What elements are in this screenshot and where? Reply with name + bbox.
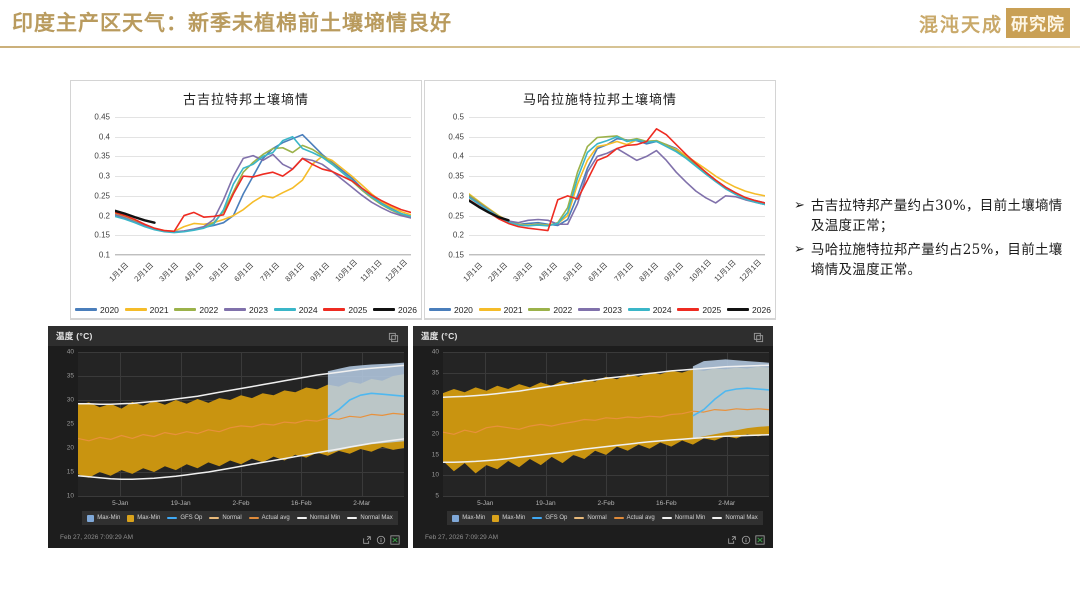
series-2020 (115, 135, 411, 232)
x-axis-tick: 3月1日 (157, 260, 181, 284)
x-axis-tick: 5月1日 (207, 260, 231, 284)
legend-label: 2022 (553, 305, 572, 315)
copy-icon[interactable] (753, 330, 764, 341)
bullet-item: ➢古吉拉特邦产量约占30%，目前土壤墒情及温度正常； (794, 196, 1072, 236)
temp-legend-item[interactable]: Normal Max (347, 515, 392, 521)
temp-legend-item[interactable]: Normal (574, 515, 606, 521)
year-legend-item[interactable]: 2024 (274, 305, 318, 315)
temp-gridline (443, 496, 769, 497)
x-axis-tick: 11月1日 (711, 257, 738, 284)
legend-label: 2025 (348, 305, 367, 315)
external-link-icon[interactable] (362, 532, 372, 542)
logo-badge: 研究院 (1006, 8, 1070, 38)
logo-text: 混沌天成 (919, 10, 1003, 37)
temp-legend-label: GFS Op (545, 515, 567, 521)
temp-y-tick: 25 (432, 410, 439, 417)
temp-footer-icons (727, 532, 765, 542)
soil-series-svg (115, 117, 411, 255)
temp-legend-label: Normal (587, 515, 606, 521)
x-axis-tick: 4月1日 (536, 260, 560, 284)
page-title: 印度主产区天气：新季未植棉前土壤墒情良好 (12, 7, 452, 37)
legend-swatch-2022 (174, 308, 196, 311)
legend-swatch-2023 (578, 308, 600, 311)
legend-swatch-2026 (727, 308, 749, 311)
x-axis-tick: 8月1日 (636, 260, 660, 284)
excel-export-icon[interactable] (755, 532, 765, 542)
temp-y-tick: 10 (432, 472, 439, 479)
soil-plot-area-gujarat: 0.450.40.350.30.250.20.150.11月1日2月1日3月1日… (115, 117, 411, 255)
temp-legend-item[interactable]: Actual avg (614, 515, 655, 521)
temperature-chart-gujarat: 温度 (°C) 403530252015105-Jan19-Jan2-Feb16… (48, 326, 408, 548)
excel-export-icon[interactable] (390, 532, 400, 542)
x-axis-tick: 2月1日 (132, 260, 156, 284)
forecast-range-band (328, 363, 404, 453)
legend-swatch-2020 (75, 308, 97, 311)
x-axis-tick: 10月1日 (332, 257, 359, 284)
x-axis-tick: 6月1日 (232, 260, 256, 284)
temp-y-tick: 40 (67, 349, 74, 356)
temperature-chart-maharashtra: 温度 (°C) 4035302520151055-Jan19-Jan2-Feb1… (413, 326, 773, 548)
year-legend-item[interactable]: 2022 (528, 305, 572, 315)
legend-swatch-2021 (479, 308, 501, 311)
temp-y-tick: 20 (67, 445, 74, 452)
bullet-item: ➢马哈拉施特拉邦产量约占25%，目前土壤墒情及温度正常。 (794, 240, 1072, 280)
legend-swatch-2026 (373, 308, 395, 311)
soil-chart-title: 马哈拉施特拉邦土壤墒情 (425, 89, 775, 108)
temp-legend-label: Normal (222, 515, 241, 521)
bullet-marker-icon: ➢ (794, 240, 805, 260)
temp-gridline (78, 496, 404, 497)
year-legend-item[interactable]: 2026 (373, 305, 417, 315)
forecast-range-band (693, 359, 769, 438)
temp-legend-swatch (87, 515, 94, 522)
series-2021 (469, 140, 765, 225)
y-axis-tick: 0.15 (94, 231, 110, 240)
y-axis-tick: 0.35 (448, 172, 464, 181)
legend-swatch-2022 (528, 308, 550, 311)
y-axis-tick: 0.35 (94, 152, 110, 161)
x-axis-tick: 5月1日 (561, 260, 585, 284)
temp-x-tick: 16-Feb (291, 500, 312, 507)
temp-legend-swatch (297, 517, 307, 519)
bullet-marker-icon: ➢ (794, 196, 805, 216)
legend-label: 2020 (454, 305, 473, 315)
temp-y-tick: 15 (67, 469, 74, 476)
x-axis-tick: 4月1日 (182, 260, 206, 284)
temp-legend-swatch (532, 517, 542, 519)
temp-footer-maharashtra: Feb 27, 2026 7:09:29 AM (413, 528, 773, 548)
temp-legend-item[interactable]: Actual avg (249, 515, 290, 521)
temp-legend-swatch (167, 517, 177, 519)
x-axis-tick: 8月1日 (282, 260, 306, 284)
temp-y-tick: 35 (67, 373, 74, 380)
info-icon[interactable] (741, 532, 751, 542)
temp-footer-icons (362, 532, 400, 542)
series-2024 (469, 137, 765, 226)
temp-legend-swatch (492, 515, 499, 522)
year-legend-item[interactable]: 2023 (578, 305, 622, 315)
year-legend-gujarat: 2020202120222023202420252026 (70, 301, 422, 319)
temp-legend-item[interactable]: Normal Max (712, 515, 757, 521)
temp-legend-label: Normal Max (725, 515, 757, 521)
temp-y-tick: 30 (432, 390, 439, 397)
temp-x-tick: 2-Mar (718, 500, 735, 507)
y-axis-tick: 0.2 (453, 231, 464, 240)
page-header: 印度主产区天气：新季未植棉前土壤墒情良好 混沌天成 研究院 (0, 0, 1080, 48)
temp-x-tick: 19-Jan (171, 500, 191, 507)
legend-swatch-2025 (677, 308, 699, 311)
temp-legend-swatch (249, 517, 259, 519)
x-axis-tick: 12月1日 (382, 257, 409, 284)
legend-swatch-2023 (224, 308, 246, 311)
temp-chart-header: 温度 (°C) (48, 326, 408, 346)
temp-legend-label: Normal Min (675, 515, 706, 521)
temp-legend-swatch (209, 517, 219, 519)
y-axis-tick: 0.45 (94, 113, 110, 122)
series-2023 (469, 149, 765, 225)
y-axis-tick: 0.4 (453, 152, 464, 161)
temp-legend-label: Normal Min (310, 515, 341, 521)
temp-x-tick: 5-Jan (112, 500, 128, 507)
gridline (115, 255, 411, 256)
x-axis-tick: 7月1日 (257, 260, 281, 284)
temp-legend-label: Max-Min (462, 515, 485, 521)
temp-x-tick: 2-Mar (353, 500, 370, 507)
temp-legend-swatch (614, 517, 624, 519)
y-axis-tick: 0.5 (453, 113, 464, 122)
bullet-text: 古吉拉特邦产量约占30%，目前土壤墒情及温度正常； (811, 196, 1072, 236)
x-axis-tick: 3月1日 (511, 260, 535, 284)
year-legend-item[interactable]: 2020 (429, 305, 473, 315)
temp-x-tick: 5-Jan (477, 500, 493, 507)
legend-label: 2023 (249, 305, 268, 315)
x-axis-tick: 6月1日 (586, 260, 610, 284)
legend-swatch-2024 (274, 308, 296, 311)
x-axis-tick: 9月1日 (661, 260, 685, 284)
temp-y-tick: 20 (432, 431, 439, 438)
temp-legend-label: Max-Min (97, 515, 120, 521)
temp-legend-swatch (712, 517, 722, 519)
temp-legend-swatch (662, 517, 672, 519)
temp-legend-label: Max-Min (137, 515, 160, 521)
temp-y-tick: 15 (432, 451, 439, 458)
external-link-icon[interactable] (727, 532, 737, 542)
legend-label: 2023 (603, 305, 622, 315)
temp-legend-gujarat: Max-MinMax-MinGFS OpNormalActual avgNorm… (82, 511, 398, 525)
year-legend-item[interactable]: 2021 (125, 305, 169, 315)
legend-swatch-2024 (628, 308, 650, 311)
legend-swatch-2025 (323, 308, 345, 311)
x-axis-tick: 9月1日 (307, 260, 331, 284)
series-2020 (469, 139, 765, 226)
temp-legend-item[interactable]: GFS Op (532, 515, 567, 521)
y-axis-tick: 0.25 (448, 211, 464, 220)
temp-footer-gujarat: Feb 27, 2026 7:09:29 AM (48, 528, 408, 548)
temp-legend-swatch (574, 517, 584, 519)
temp-timestamp: Feb 27, 2026 7:09:29 AM (60, 534, 133, 541)
y-axis-tick: 0.3 (99, 172, 110, 181)
year-legend-item[interactable]: 2023 (224, 305, 268, 315)
legend-label: 2021 (150, 305, 169, 315)
legend-label: 2021 (504, 305, 523, 315)
legend-label: 2020 (100, 305, 119, 315)
temp-plot-area-gujarat: 403530252015105-Jan19-Jan2-Feb16-Feb2-Ma… (78, 352, 404, 496)
temp-x-tick: 2-Feb (233, 500, 250, 507)
legend-label: 2025 (702, 305, 721, 315)
gridline (469, 255, 765, 256)
temp-legend-label: Actual avg (627, 515, 655, 521)
x-axis-tick: 10月1日 (686, 257, 713, 284)
temp-legend-swatch (127, 515, 134, 522)
soil-series-svg (469, 117, 765, 255)
temp-legend-label: GFS Op (180, 515, 202, 521)
temp-legend-swatch (452, 515, 459, 522)
header-divider (0, 46, 1080, 48)
year-legend-item[interactable]: 2026 (727, 305, 771, 315)
temp-legend-item[interactable]: Max-Min (87, 515, 120, 522)
year-legend-item[interactable]: 2020 (75, 305, 119, 315)
soil-plot-area-maharashtra: 0.50.450.40.350.30.250.20.151月1日2月1日3月1日… (469, 117, 765, 255)
temp-legend-item[interactable]: GFS Op (167, 515, 202, 521)
year-legend-item[interactable]: 2022 (174, 305, 218, 315)
temp-legend-item[interactable]: Normal Min (297, 515, 341, 521)
temp-legend-swatch (347, 517, 357, 519)
temp-series-svg (443, 352, 769, 496)
year-legend-item[interactable]: 2025 (323, 305, 367, 315)
legend-label: 2024 (653, 305, 672, 315)
y-axis-tick: 0.1 (99, 251, 110, 260)
temp-x-tick: 2-Feb (598, 500, 615, 507)
temp-legend-label: Max-Min (502, 515, 525, 521)
temp-legend-label: Actual avg (262, 515, 290, 521)
x-axis-tick: 7月1日 (611, 260, 635, 284)
company-logo: 混沌天成 研究院 (919, 6, 1070, 40)
temp-chart-title: 温度 (°C) (56, 330, 93, 342)
temp-y-tick: 10 (67, 493, 74, 500)
temp-y-tick: 35 (432, 369, 439, 376)
temp-legend-maharashtra: Max-MinMax-MinGFS OpNormalActual avgNorm… (447, 511, 763, 525)
legend-swatch-2021 (125, 308, 147, 311)
info-icon[interactable] (376, 532, 386, 542)
temp-legend-label: Normal Max (360, 515, 392, 521)
bullet-text: 马哈拉施特拉邦产量约占25%，目前土壤墒情及温度正常。 (811, 240, 1072, 280)
temp-y-tick: 40 (432, 349, 439, 356)
year-legend-item[interactable]: 2024 (628, 305, 672, 315)
legend-label: 2022 (199, 305, 218, 315)
temp-legend-item[interactable]: Max-Min (127, 515, 160, 522)
legend-label: 2024 (299, 305, 318, 315)
soil-chart-title: 古吉拉特邦土壤墒情 (71, 89, 421, 108)
temp-y-tick: 25 (67, 421, 74, 428)
year-legend-maharashtra: 2020202120222023202420252026 (424, 301, 776, 319)
x-axis-tick: 1月1日 (461, 260, 485, 284)
temp-legend-item[interactable]: Normal (209, 515, 241, 521)
temp-series-svg (78, 352, 404, 496)
temp-x-tick: 19-Jan (536, 500, 556, 507)
temp-plot-area-maharashtra: 4035302520151055-Jan19-Jan2-Feb16-Feb2-M… (443, 352, 769, 496)
temp-chart-header: 温度 (°C) (413, 326, 773, 346)
temp-legend-item[interactable]: Max-Min (492, 515, 525, 522)
copy-icon[interactable] (388, 330, 399, 341)
temp-y-tick: 30 (67, 397, 74, 404)
y-axis-tick: 0.45 (448, 132, 464, 141)
year-legend-item[interactable]: 2025 (677, 305, 721, 315)
x-axis-tick: 11月1日 (357, 257, 384, 284)
legend-label: 2026 (398, 305, 417, 315)
y-axis-tick: 0.2 (99, 211, 110, 220)
legend-label: 2026 (752, 305, 771, 315)
y-axis-tick: 0.4 (99, 132, 110, 141)
soil-chart-gujarat: 古吉拉特邦土壤墒情 0.450.40.350.30.250.20.150.11月… (70, 80, 422, 320)
legend-swatch-2020 (429, 308, 451, 311)
year-legend-item[interactable]: 2021 (479, 305, 523, 315)
temp-y-tick: 5 (435, 493, 439, 500)
x-axis-tick: 12月1日 (736, 257, 763, 284)
y-axis-tick: 0.15 (448, 251, 464, 260)
temp-chart-title: 温度 (°C) (421, 330, 458, 342)
x-axis-tick: 1月1日 (107, 260, 131, 284)
series-2024 (115, 137, 411, 233)
x-axis-tick: 2月1日 (486, 260, 510, 284)
summary-bullets: ➢古吉拉特邦产量约占30%，目前土壤墒情及温度正常；➢马哈拉施特拉邦产量约占25… (794, 196, 1072, 284)
temp-timestamp: Feb 27, 2026 7:09:29 AM (425, 534, 498, 541)
temp-legend-item[interactable]: Max-Min (452, 515, 485, 522)
y-axis-tick: 0.25 (94, 191, 110, 200)
soil-chart-maharashtra: 马哈拉施特拉邦土壤墒情 0.50.450.40.350.30.250.20.15… (424, 80, 776, 320)
temp-legend-item[interactable]: Normal Min (662, 515, 706, 521)
y-axis-tick: 0.3 (453, 191, 464, 200)
temp-x-tick: 16-Feb (656, 500, 677, 507)
